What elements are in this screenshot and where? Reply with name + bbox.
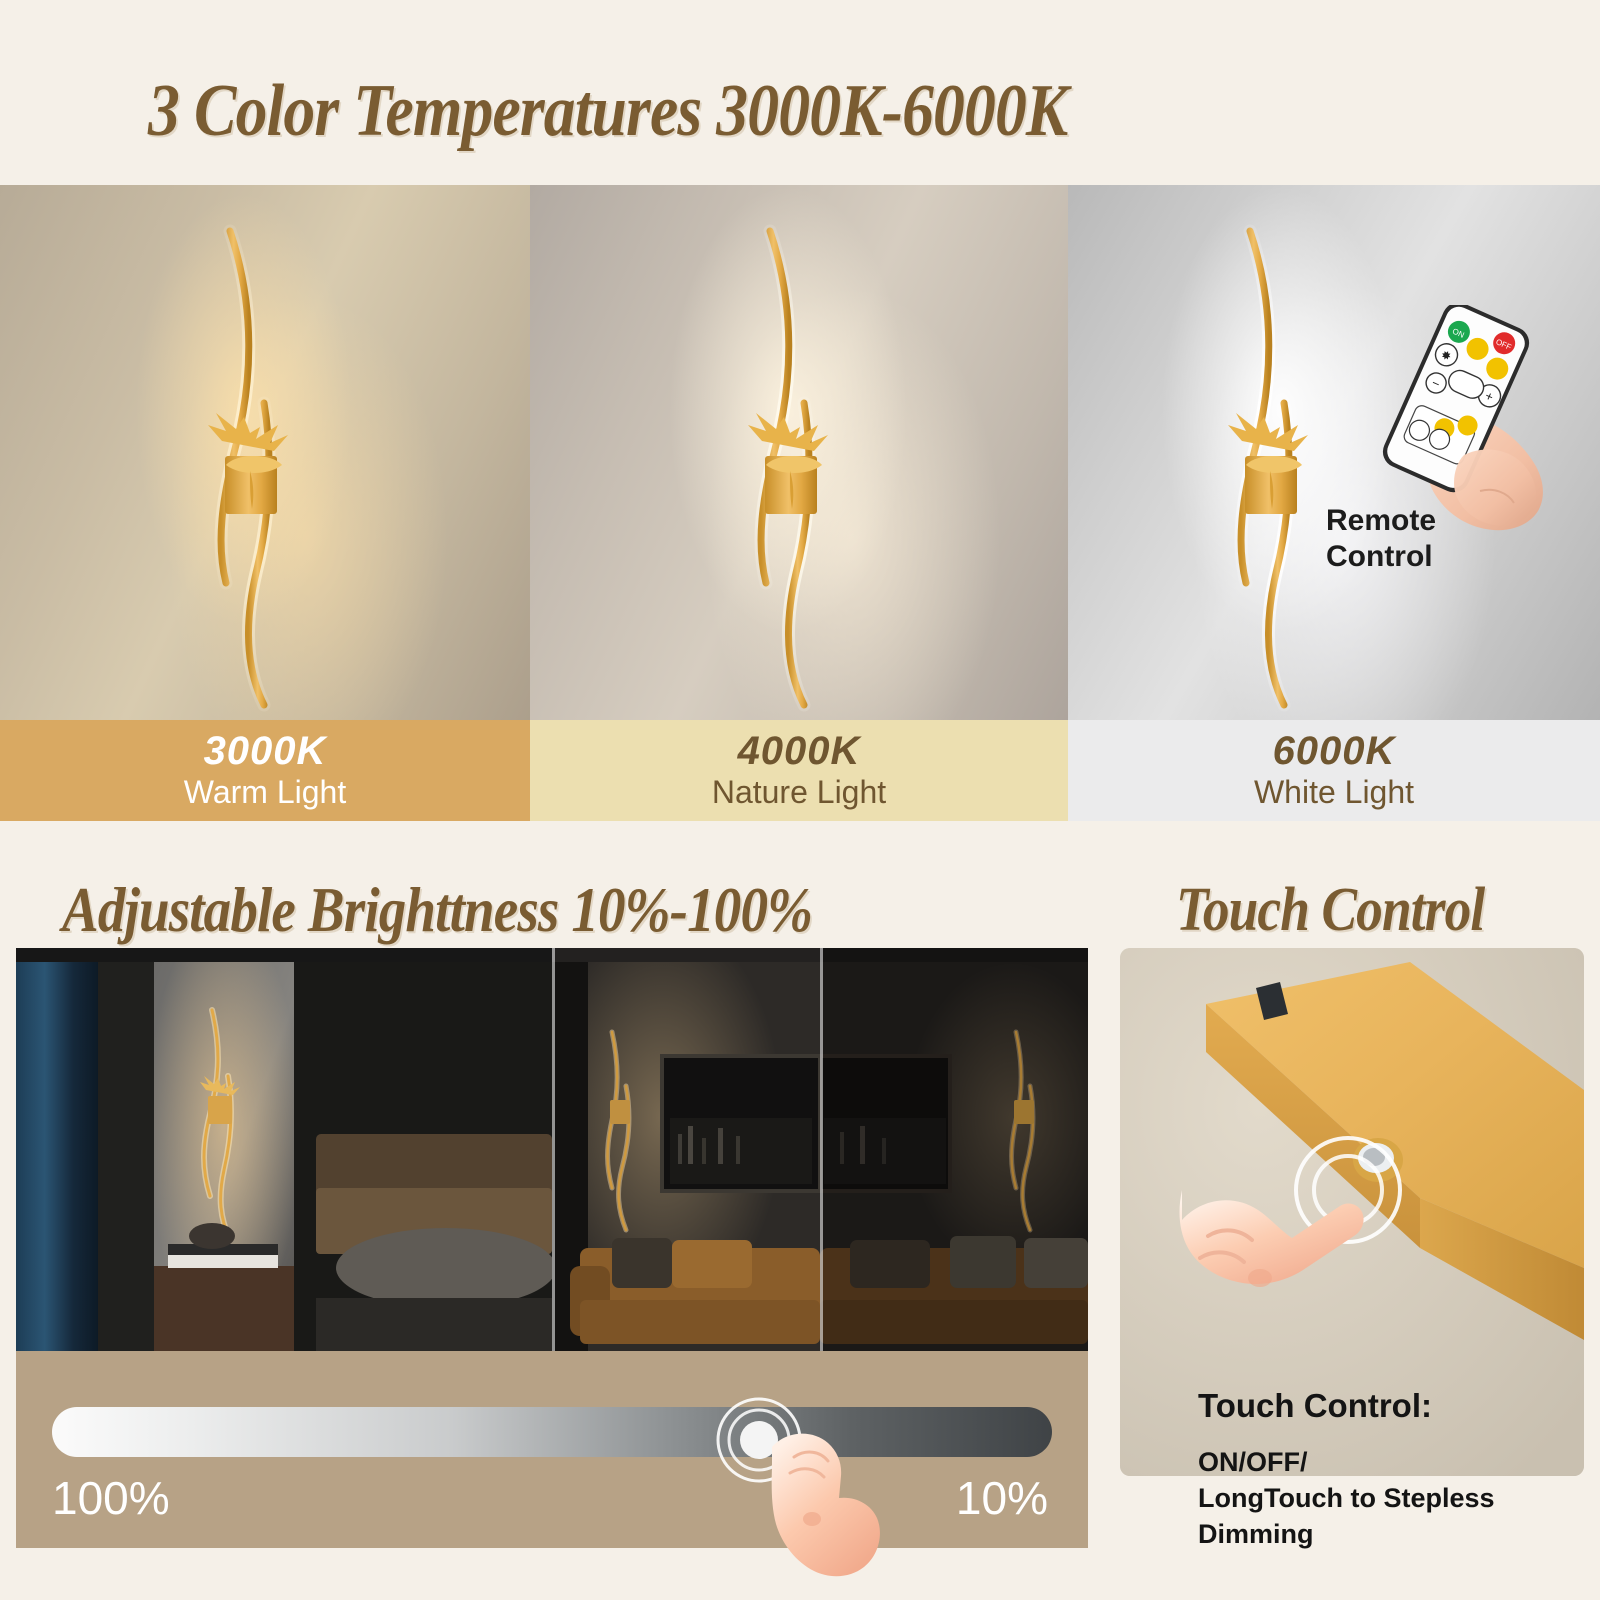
brightness-min-label: 10%	[956, 1473, 1048, 1523]
touch-control-caption: Touch Control: ON/OFF/ LongTouch to Step…	[1198, 1384, 1578, 1552]
scene-living-room-dimmest	[820, 948, 1088, 1351]
brightness-slider-track[interactable]	[52, 1407, 1052, 1457]
color-temp-panel-3000k: 3000K Warm Light	[0, 185, 530, 821]
sconce-photo-white: ON OFF ✸ + −	[1068, 185, 1600, 720]
brightness-heading: Adjustable Brighttness 10%-100%	[62, 872, 812, 948]
band-6000k: 6000K White Light	[1068, 720, 1600, 821]
color-temperature-section: 3000K Warm Light	[0, 185, 1600, 821]
touch-control-caption-title: Touch Control:	[1198, 1384, 1578, 1428]
brightness-slider-panel: 100% 10%	[16, 1351, 1088, 1548]
sconce-photo-warm	[0, 185, 530, 720]
touch-control-caption-body: ON/OFF/ LongTouch to Stepless Dimming	[1198, 1444, 1578, 1552]
touch-control-heading: Touch Control	[1176, 872, 1484, 948]
band-kelvin-4000k: 4000K	[738, 730, 861, 773]
band-name-6000k: White Light	[1254, 773, 1414, 811]
remote-control-label: Remote Control	[1326, 503, 1436, 575]
band-kelvin-3000k: 3000K	[204, 730, 327, 773]
scene-divider-1	[552, 948, 555, 1351]
brightness-scenes	[16, 948, 1088, 1351]
color-temp-panel-6000k: ON OFF ✸ + −	[1068, 185, 1600, 821]
band-kelvin-6000k: 6000K	[1273, 730, 1396, 773]
color-temp-panel-4000k: 4000K Nature Light	[530, 185, 1068, 821]
wall-sconce-lamp	[160, 213, 370, 713]
scene-bedroom-bright	[16, 948, 552, 1351]
remote-label-line2: Control	[1326, 539, 1436, 575]
wall-sconce-lamp	[700, 213, 910, 713]
sconce-photo-nature	[530, 185, 1068, 720]
band-4000k: 4000K Nature Light	[530, 720, 1068, 821]
band-name-3000k: Warm Light	[184, 773, 346, 811]
band-name-4000k: Nature Light	[712, 773, 886, 811]
product-infographic: 3 Color Temperatures 3000K-6000K	[0, 0, 1600, 1600]
pointing-hand-icon	[760, 1427, 890, 1577]
brightness-max-label: 100%	[52, 1473, 170, 1523]
scene-living-room-dim	[552, 948, 820, 1351]
wall-sconce-lamp	[1180, 213, 1390, 713]
page-title: 3 Color Temperatures 3000K-6000K	[148, 68, 1068, 154]
scene-divider-2	[820, 948, 823, 1351]
band-3000k: 3000K Warm Light	[0, 720, 530, 821]
remote-label-line1: Remote	[1326, 503, 1436, 539]
